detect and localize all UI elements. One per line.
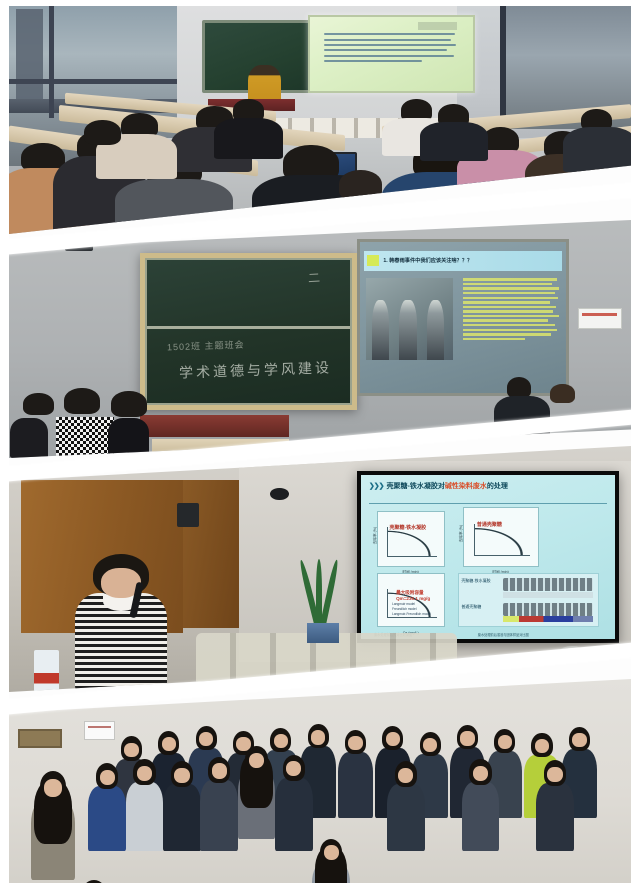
slide-text-lines — [324, 33, 460, 65]
slide-title: ❯❯❯壳聚糖-铁水凝胶对碱性染料废水的处理 — [369, 481, 610, 491]
capacity-value: Qm=236.1 mg/g — [396, 596, 430, 601]
research-slide: ❯❯❯壳聚糖-铁水凝胶对碱性染料废水的处理 壳聚糖-铁水凝胶 时间 (min) … — [361, 475, 614, 639]
window-mullion — [9, 79, 177, 84]
slide-title-underline — [369, 503, 607, 504]
capacity-label: 最大吸附容量 — [396, 590, 424, 595]
sample-vials-row — [503, 578, 592, 591]
sample-color-strip — [503, 592, 592, 598]
projection-screen: 1. 韩春雨事件中我们应该关注啥？？？ — [357, 239, 568, 396]
plant-pot — [307, 623, 338, 643]
person-head — [84, 120, 121, 145]
chart-label: 壳聚糖-铁水凝胶 — [389, 524, 426, 531]
slide-title-bar: 1. 韩春雨事件中我们应该关注啥？？？ — [364, 251, 561, 271]
wall-notice-sign — [578, 308, 622, 329]
chart-label: 普通壳聚糖 — [477, 521, 502, 528]
collage-frame: 二 1502班 主题班会 学术道德与学风建设 1. 韩春雨事件中我们应该关注啥？… — [9, 6, 631, 883]
checkered-coat — [56, 417, 113, 458]
slide-title-highlight: 碱性染料废水 — [445, 483, 487, 490]
chart-adsorption-isotherm: 最大吸附容量 Qm=236.1 mg/g Langmuir model Freu… — [377, 573, 445, 627]
person-head — [23, 393, 53, 416]
presenter-person — [71, 554, 171, 692]
slide-title: 1. 韩春雨事件中我们应该关注啥？？？ — [383, 257, 472, 264]
arrows-icon: ❯❯❯ — [369, 483, 384, 490]
person — [81, 880, 107, 883]
standing-students-group — [15, 382, 152, 458]
slide-marker-icon — [367, 255, 379, 266]
projection-screen — [308, 15, 476, 93]
slide-title-prefix: 壳聚糖-铁水凝胶对 — [387, 483, 445, 490]
chalk-topic-line: 学术道德与学风建设 — [179, 358, 333, 383]
person — [40, 771, 66, 879]
chart-ylabel: 去除率 (%) — [459, 525, 464, 542]
slide-badge — [418, 22, 457, 30]
slide-footer-right: 废水处理前后溶液与固体样品对比图 — [478, 632, 529, 637]
decolorization-comparison: 壳聚糖-铁水凝胶 普通壳聚糖 — [458, 573, 600, 627]
person — [320, 839, 342, 883]
photo-collage: 二 1502班 主题班会 学术道德与学风建设 1. 韩春雨事件中我们应该关注啥？… — [0, 0, 640, 889]
legend-entry: Langmuir-Freundlich model — [392, 612, 431, 617]
chart-legend: Langmuir model Freundlich model Langmuir… — [392, 602, 431, 618]
slide-title-suffix: 的处理 — [487, 483, 508, 490]
slide-photograph — [366, 278, 452, 360]
chart-plain-chitosan: 普通壳聚糖 时间 (min) 去除率 (%) — [463, 507, 539, 566]
person-body — [214, 118, 282, 159]
person-body — [563, 127, 631, 173]
chalk-big-character: 二 — [307, 269, 322, 287]
person-head — [64, 388, 100, 414]
chalkboard: 二 1502班 主题班会 学术道德与学风建设 — [140, 253, 358, 410]
person-body — [420, 122, 488, 161]
person-head — [550, 384, 575, 403]
slide-body-text — [463, 278, 560, 363]
teacher-desk — [140, 415, 289, 436]
wall-speaker-icon — [177, 503, 199, 528]
person-head — [339, 170, 383, 200]
person-body — [10, 418, 48, 458]
front-speaker-person — [248, 65, 280, 104]
person-head — [111, 391, 147, 417]
sample-vials-row — [503, 603, 592, 616]
comparison-row-label: 普通壳聚糖 — [461, 604, 481, 609]
chalk-class-line: 1502班 主题班会 — [167, 338, 245, 354]
chart-chitosan-iron-hydrogel: 壳聚糖-铁水凝胶 时间 (min) 去除率 (%) — [377, 511, 445, 567]
comparison-row-label: 壳聚糖-铁水凝胶 — [461, 578, 490, 583]
potted-plant — [301, 559, 345, 643]
ceiling-camera-icon — [270, 488, 289, 500]
person-body — [108, 418, 149, 458]
presentation-display: ❯❯❯壳聚糖-铁水凝胶对碱性染料废水的处理 壳聚糖-铁水凝胶 时间 (min) … — [357, 471, 618, 643]
water-bottle — [34, 650, 59, 692]
chart-ylabel: 去除率 (%) — [373, 527, 378, 544]
chalkboard-divider — [147, 326, 351, 329]
chart-plot-area — [474, 524, 530, 556]
chart-plot-area — [387, 527, 437, 557]
chalkboard-surface: 二 1502班 主题班会 学术道德与学风建设 — [145, 258, 353, 405]
sample-color-strip — [503, 616, 592, 622]
panel-group-photo — [9, 679, 631, 883]
